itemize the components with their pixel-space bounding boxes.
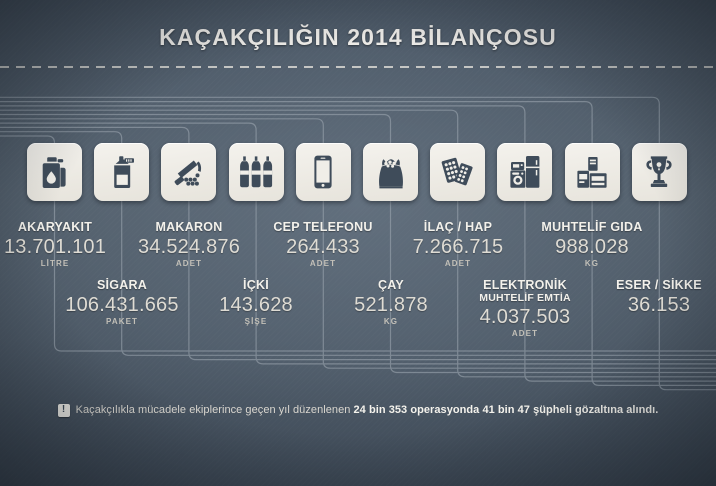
stat-name-line2: MUHTELİF EMTİA [450,292,600,304]
stat-unit: ADET [383,259,533,269]
stat-value: 988.028 [517,235,667,259]
stat-name: MAKARON [114,220,264,234]
stat-block-i-la-hap: İLAÇ / HAP7.266.715ADET [383,220,533,269]
stat-block-akaryakit: AKARYAKIT13.701.101LİTRE [0,220,130,269]
stat-unit: KG [517,259,667,269]
stat-value: 7.266.715 [383,235,533,259]
stat-value: 34.524.876 [114,235,264,259]
stat-name: AKARYAKIT [0,220,130,234]
stat-value: 106.431.665 [47,293,197,317]
stat-block-ay: ÇAY521.878KG [316,278,466,327]
stat-block-muhteli-f-gida: MUHTELİF GIDA988.028KG [517,220,667,269]
stat-value: 4.037.503 [450,305,600,329]
stat-block-cep-telefonu: CEP TELEFONU264.433ADET [248,220,398,269]
stat-name: ÇAY [316,278,466,292]
stat-block-makaron: MAKARON34.524.876ADET [114,220,264,269]
stat-name: İLAÇ / HAP [383,220,533,234]
stat-unit: ADET [248,259,398,269]
stat-name: SİGARA [47,278,197,292]
stat-value: 521.878 [316,293,466,317]
exclamation-icon: ! [58,404,70,417]
footer-text: Kaçakçılıkla mücadele ekiplerince geçen … [76,404,659,416]
stat-unit: ADET [450,329,600,339]
stat-value: 264.433 [248,235,398,259]
stat-name: İÇKİ [181,278,331,292]
stat-name: ELEKTRONİK [450,278,600,292]
stat-value: 36.153 [584,293,716,317]
footer-text-bold: 24 bin 353 operasyonda 41 bin 47 şüpheli… [354,404,659,416]
footer-text-lead: Kaçakçılıkla mücadele ekiplerince geçen … [76,404,354,416]
stat-unit: KG [316,317,466,327]
stat-unit: ŞİŞE [181,317,331,327]
footer-note: ! Kaçakçılıkla mücadele ekiplerince geçe… [0,400,716,420]
stat-value: 143.628 [181,293,331,317]
stat-name: ESER / SİKKE [584,278,716,292]
stat-block-si-gara: SİGARA106.431.665PAKET [47,278,197,327]
stat-name: MUHTELİF GIDA [517,220,667,234]
stat-unit: LİTRE [0,259,130,269]
stat-block-eser-si-kke: ESER / SİKKE36.153 [584,278,716,317]
stat-block-elektroni-k: ELEKTRONİKMUHTELİF EMTİA4.037.503ADET [450,278,600,339]
stat-unit: ADET [114,259,264,269]
stat-name: CEP TELEFONU [248,220,398,234]
infographic-canvas: KAÇAKÇILIĞIN 2014 BİLANÇOSU [0,0,716,486]
stat-value: 13.701.101 [0,235,130,259]
stat-block-i-ki: İÇKİ143.628ŞİŞE [181,278,331,327]
stat-unit: PAKET [47,317,197,327]
